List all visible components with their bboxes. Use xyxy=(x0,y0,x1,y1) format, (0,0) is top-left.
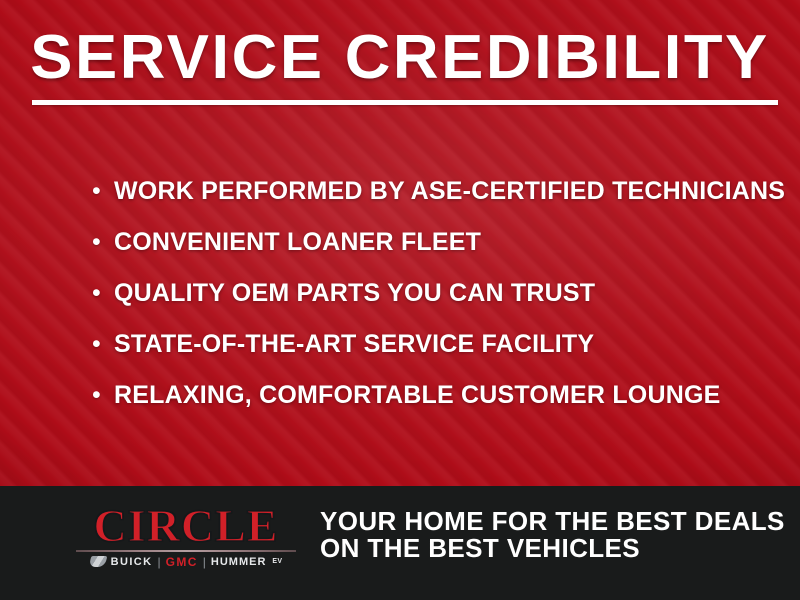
bullet-dot-icon: • xyxy=(92,331,114,357)
list-item: • WORK PERFORMED BY ASE-CERTIFIED TECHNI… xyxy=(92,178,785,229)
buick-tri-shield-icon xyxy=(88,556,107,567)
benefits-list: • WORK PERFORMED BY ASE-CERTIFIED TECHNI… xyxy=(92,178,785,433)
logo-divider-line xyxy=(76,550,296,552)
list-item-label: QUALITY OEM PARTS YOU CAN TRUST xyxy=(114,280,595,306)
service-credibility-slide: SERVICE CREDIBILITY • WORK PERFORMED BY … xyxy=(0,0,800,600)
dealer-logo: CIRCLE BUICK | GMC | HUMMER EV xyxy=(72,504,300,569)
list-item-label: STATE-OF-THE-ART SERVICE FACILITY xyxy=(114,331,594,357)
bullet-dot-icon: • xyxy=(92,229,114,255)
brand-strip: BUICK | GMC | HUMMER EV xyxy=(72,554,300,569)
dealer-tagline: YOUR HOME FOR THE BEST DEALS ON THE BEST… xyxy=(320,508,785,562)
brand-hummer-label: HUMMER xyxy=(211,556,267,568)
brand-separator-icon: | xyxy=(203,556,206,568)
list-item-label: RELAXING, COMFORTABLE CUSTOMER LOUNGE xyxy=(114,382,720,408)
list-item-label: CONVENIENT LOANER FLEET xyxy=(114,229,481,255)
list-item: • CONVENIENT LOANER FLEET xyxy=(92,229,785,280)
brand-gmc-label: GMC xyxy=(166,555,198,569)
bullet-dot-icon: • xyxy=(92,178,114,204)
list-item: • QUALITY OEM PARTS YOU CAN TRUST xyxy=(92,280,785,331)
bullet-dot-icon: • xyxy=(92,382,114,408)
list-item: • STATE-OF-THE-ART SERVICE FACILITY xyxy=(92,331,785,382)
page-title: SERVICE CREDIBILITY xyxy=(0,26,800,90)
brand-hummer-ev-suffix: EV xyxy=(272,558,282,565)
bullet-dot-icon: • xyxy=(92,280,114,306)
brand-separator-icon: | xyxy=(157,556,160,568)
dealer-wordmark: CIRCLE xyxy=(72,504,300,548)
list-item: • RELAXING, COMFORTABLE CUSTOMER LOUNGE xyxy=(92,382,785,433)
title-underline-divider xyxy=(32,100,778,105)
tagline-line-1: YOUR HOME FOR THE BEST DEALS xyxy=(320,508,785,535)
tagline-line-2: ON THE BEST VEHICLES xyxy=(320,535,785,562)
brand-buick-label: BUICK xyxy=(111,556,153,568)
list-item-label: WORK PERFORMED BY ASE-CERTIFIED TECHNICI… xyxy=(114,178,785,204)
